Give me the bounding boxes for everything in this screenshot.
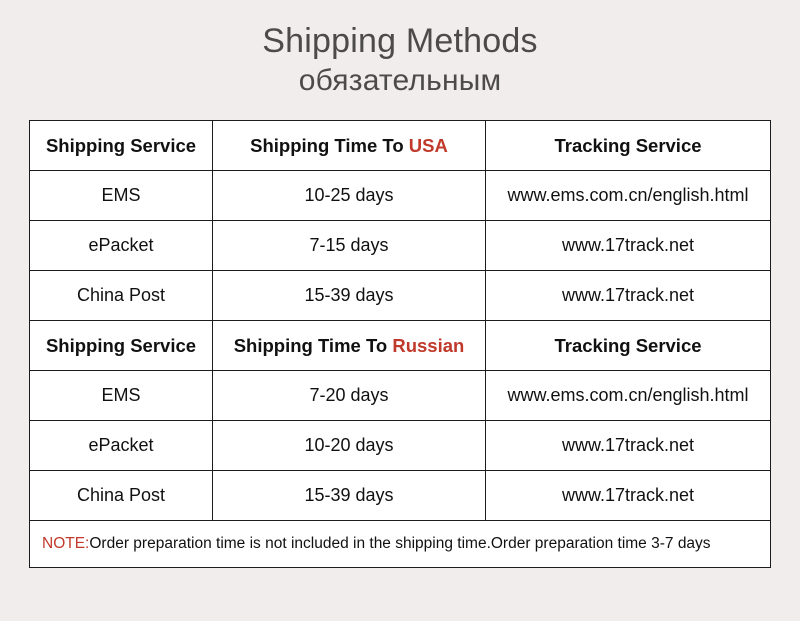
cell-time: 15-39 days <box>213 271 486 321</box>
table-row: EMS 7-20 days www.ems.com.cn/english.htm… <box>30 371 771 421</box>
note-cell: NOTE:Order preparation time is not inclu… <box>30 521 771 568</box>
table-row: China Post 15-39 days www.17track.net <box>30 271 771 321</box>
column-header-shipping-time-usa: Shipping Time To USA <box>213 121 486 171</box>
cell-tracking: www.17track.net <box>486 271 771 321</box>
shipping-methods-banner: Shipping Methods обязательным Shipping S… <box>0 0 800 621</box>
shipping-time-prefix: Shipping Time To <box>234 335 393 356</box>
column-header-tracking-service: Tracking Service <box>486 321 771 371</box>
table-row: China Post 15-39 days www.17track.net <box>30 471 771 521</box>
page-title: Shipping Methods <box>0 20 800 62</box>
cell-time: 7-20 days <box>213 371 486 421</box>
cell-service: EMS <box>30 171 213 221</box>
page-subtitle: обязательным <box>0 62 800 100</box>
cell-service: ePacket <box>30 221 213 271</box>
table-header-row-usa: Shipping Service Shipping Time To USA Tr… <box>30 121 771 171</box>
cell-tracking: www.ems.com.cn/english.html <box>486 171 771 221</box>
cell-time: 10-20 days <box>213 421 486 471</box>
cell-tracking: www.17track.net <box>486 471 771 521</box>
shipping-table-container: Shipping Service Shipping Time To USA Tr… <box>29 120 770 568</box>
column-header-shipping-service: Shipping Service <box>30 321 213 371</box>
table-row: ePacket 10-20 days www.17track.net <box>30 421 771 471</box>
shipping-time-prefix: Shipping Time To <box>250 135 409 156</box>
cell-time: 10-25 days <box>213 171 486 221</box>
cell-tracking: www.ems.com.cn/english.html <box>486 371 771 421</box>
table-note-row: NOTE:Order preparation time is not inclu… <box>30 521 771 568</box>
shipping-methods-table: Shipping Service Shipping Time To USA Tr… <box>29 120 771 568</box>
note-text: Order preparation time is not included i… <box>89 535 710 552</box>
table-row: EMS 10-25 days www.ems.com.cn/english.ht… <box>30 171 771 221</box>
shipping-time-destination: USA <box>409 135 448 156</box>
title-block: Shipping Methods обязательным <box>0 0 800 100</box>
cell-tracking: www.17track.net <box>486 421 771 471</box>
cell-time: 15-39 days <box>213 471 486 521</box>
table-header-row-russian: Shipping Service Shipping Time To Russia… <box>30 321 771 371</box>
cell-time: 7-15 days <box>213 221 486 271</box>
cell-tracking: www.17track.net <box>486 221 771 271</box>
cell-service: EMS <box>30 371 213 421</box>
column-header-shipping-service: Shipping Service <box>30 121 213 171</box>
table-row: ePacket 7-15 days www.17track.net <box>30 221 771 271</box>
note-label: NOTE: <box>42 535 89 552</box>
cell-service: China Post <box>30 271 213 321</box>
cell-service: China Post <box>30 471 213 521</box>
column-header-shipping-time-russian: Shipping Time To Russian <box>213 321 486 371</box>
column-header-tracking-service: Tracking Service <box>486 121 771 171</box>
shipping-time-destination: Russian <box>392 335 464 356</box>
cell-service: ePacket <box>30 421 213 471</box>
